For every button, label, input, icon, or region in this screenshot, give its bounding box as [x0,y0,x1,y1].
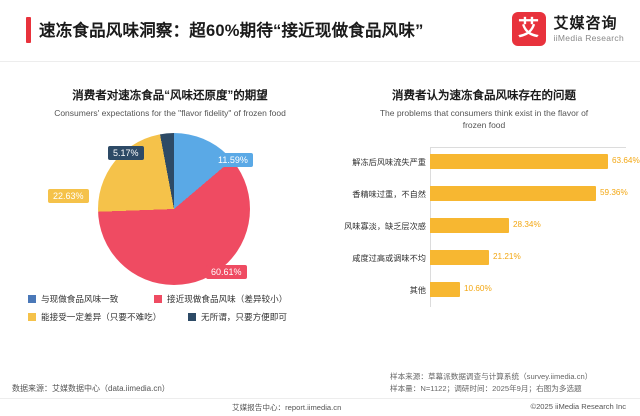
brand-logo-group: 艾 艾媒咨询 iiMedia Research [512,12,624,46]
bar-fill-4 [430,282,460,297]
legend-item-3: 无所谓，只要方便即可 [188,311,287,323]
bar-chart-title-en-line1: The problems that consumers think exist … [334,107,634,119]
bar-value-3: 21.21% [493,252,521,261]
bar-track-3: 21.21% [430,250,626,265]
source-note-right-line2: 样本量：N=1122；调研时间：2025年9月；右图为多选题 [390,383,582,394]
pie-label-3: 5.17% [108,146,144,160]
bar-value-1: 59.36% [600,188,628,197]
source-note-left: 数据来源：艾媒数据中心（data.iimedia.cn） [12,383,170,394]
legend-item-0: 与现做食品风味一致 [28,293,154,305]
bar-track-1: 59.36% [430,186,626,201]
pie-label-0: 11.59% [213,153,253,167]
footer-report-link[interactable]: 艾媒报告中心：report.iimedia.cn [232,402,341,413]
legend-label-2: 能接受一定差异（只要不难吃） [41,311,161,323]
footer-copyright: ©2025 iiMedia Research Inc [530,402,626,411]
bar-fill-3 [430,250,489,265]
legend-label-0: 与现做食品风味一致 [41,293,118,305]
pie-chart-title-en: Consumers' expectations for the "flavor … [10,107,330,119]
bar-label-4: 其他 [286,284,426,296]
bar-row-3: 咸度过高或调味不均 21.21% [334,243,634,273]
legend-row-2: 能接受一定差异（只要不难吃） 无所谓，只要方便即可 [28,311,318,323]
bar-track-2: 28.34% [430,218,626,233]
slide-root: 速冻食品风味洞察：超60%期待“接近现做食品风味” 艾 艾媒咨询 iiMedia… [0,0,640,416]
pie-legend: 与现做食品风味一致 接近现做食品风味（差异较小） 能接受一定差异（只要不难吃） … [28,293,318,329]
bar-row-2: 风味寡淡，缺乏层次感 28.34% [334,211,634,241]
header: 速冻食品风味洞察：超60%期待“接近现做食品风味” 艾 艾媒咨询 iiMedia… [0,0,640,62]
pie-chart-panel: 消费者对速冻食品“风味还原度”的期望 Consumers' expectatio… [10,88,330,358]
legend-label-3: 无所谓，只要方便即可 [201,311,287,323]
bar-track-0: 63.64% [430,154,626,169]
bar-row-1: 香精味过重，不自然 59.36% [334,179,634,209]
footer: 艾媒报告中心：report.iimedia.cn ©2025 iiMedia R… [0,398,640,416]
bar-label-2: 风味寡淡，缺乏层次感 [286,220,426,232]
legend-swatch-icon-1 [154,295,162,303]
bar-row-4: 其他 10.60% [334,275,634,305]
brand-text: 艾媒咨询 iiMedia Research [554,15,624,44]
bar-chart-panel: 消费者认为速冻食品风味存在的问题 The problems that consu… [334,88,634,358]
bar-value-2: 28.34% [513,220,541,229]
bar-chart-title-en-line2: frozen food [334,119,634,131]
pie-chart-area: 11.59% 60.61% 22.63% 5.17% [10,127,330,312]
bar-value-0: 63.64% [612,156,640,165]
legend-swatch-icon-2 [28,313,36,321]
bar-value-4: 10.60% [464,284,492,293]
bar-fill-1 [430,186,596,201]
bar-track-4: 10.60% [430,282,626,297]
legend-item-2: 能接受一定差异（只要不难吃） [28,311,188,323]
page-title: 速冻食品风味洞察：超60%期待“接近现做食品风味” [39,17,424,41]
legend-row-1: 与现做食品风味一致 接近现做食品风味（差异较小） [28,293,318,305]
pie-label-1: 60.61% [206,265,247,279]
brand-name-cn: 艾媒咨询 [554,15,624,32]
bar-label-3: 咸度过高或调味不均 [286,252,426,264]
brand-mark-icon: 艾 [512,12,546,46]
legend-swatch-icon-0 [28,295,36,303]
bar-chart-area: 解冻后风味流失严重 63.64% 香精味过重，不自然 59.36% 风味寡淡，缺… [334,147,634,337]
pie-chart-title-cn: 消费者对速冻食品“风味还原度”的期望 [10,88,330,104]
bar-chart-title-cn: 消费者认为速冻食品风味存在的问题 [334,88,634,104]
bar-fill-2 [430,218,509,233]
source-note-right-line1: 样本来源：草幕派数据调查与计算系统（survey.iimedia.cn） [390,371,592,382]
bar-label-1: 香精味过重，不自然 [286,188,426,200]
pie-label-2: 22.63% [48,189,89,203]
bar-fill-0 [430,154,608,169]
bar-label-0: 解冻后风味流失严重 [286,156,426,168]
brand-name-en: iiMedia Research [554,32,624,44]
title-accent-bar [26,17,31,43]
legend-swatch-icon-3 [188,313,196,321]
legend-label-1: 接近现做食品风味（差异较小） [167,293,287,305]
bar-row-0: 解冻后风味流失严重 63.64% [334,147,634,177]
